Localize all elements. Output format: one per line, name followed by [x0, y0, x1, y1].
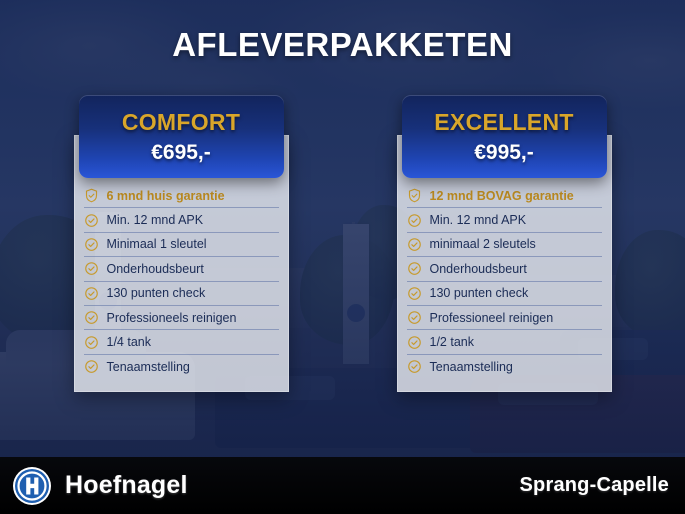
circle-check-icon — [407, 237, 422, 252]
shield-check-icon — [84, 188, 99, 203]
package-header-excellent: EXCELLENT €995,- — [402, 95, 607, 178]
shield-check-icon — [407, 188, 422, 203]
package-header-comfort: COMFORT €695,- — [79, 95, 284, 178]
feature-label: 1/2 tank — [430, 335, 474, 349]
brand-block: Hoefnagel — [12, 466, 188, 506]
brand-name: Hoefnagel — [65, 471, 188, 500]
feature-row: 12 mnd BOVAG garantie — [407, 184, 602, 208]
package-price: €995,- — [410, 141, 599, 165]
circle-check-icon — [84, 310, 99, 325]
circle-check-icon — [84, 359, 99, 374]
feature-row: 130 punten check — [84, 282, 279, 306]
package-list: 6 mnd huis garantie Min. 12 mnd APK Mini… — [0, 95, 685, 178]
circle-check-icon — [407, 359, 422, 374]
feature-label: Min. 12 mnd APK — [430, 213, 527, 227]
feature-label: 1/4 tank — [107, 335, 151, 349]
feature-row: Professioneels reinigen — [84, 306, 279, 330]
feature-label: minimaal 2 sleutels — [430, 237, 536, 251]
circle-check-icon — [84, 237, 99, 252]
feature-label: Minimaal 1 sleutel — [107, 237, 207, 251]
feature-row: Tenaamstelling — [407, 355, 602, 379]
package-card-excellent[interactable]: 12 mnd BOVAG garantie Min. 12 mnd APK mi… — [392, 95, 617, 178]
feature-list-excellent: 12 mnd BOVAG garantie Min. 12 mnd APK mi… — [398, 184, 611, 379]
feature-row: Professioneel reinigen — [407, 306, 602, 330]
feature-row: Min. 12 mnd APK — [84, 208, 279, 232]
feature-row: Onderhoudsbeurt — [84, 257, 279, 281]
feature-row: 6 mnd huis garantie — [84, 184, 279, 208]
feature-label: 12 mnd BOVAG garantie — [430, 189, 574, 203]
page-title: AFLEVERPAKKETEN — [0, 26, 685, 64]
feature-list-comfort: 6 mnd huis garantie Min. 12 mnd APK Mini… — [75, 184, 288, 379]
package-name: COMFORT — [87, 109, 276, 136]
circle-check-icon — [84, 261, 99, 276]
circle-check-icon — [407, 261, 422, 276]
feature-row: 1/4 tank — [84, 330, 279, 354]
feature-row: Minimaal 1 sleutel — [84, 233, 279, 257]
package-card-comfort[interactable]: 6 mnd huis garantie Min. 12 mnd APK Mini… — [69, 95, 294, 178]
feature-label: 130 punten check — [430, 286, 529, 300]
feature-label: 6 mnd huis garantie — [107, 189, 225, 203]
feature-label: Onderhoudsbeurt — [430, 262, 527, 276]
feature-row: Tenaamstelling — [84, 355, 279, 379]
location-label: Sprang-Capelle — [520, 474, 670, 497]
circle-check-icon — [84, 213, 99, 228]
package-name: EXCELLENT — [410, 109, 599, 136]
hoefnagel-logo-icon — [12, 466, 52, 506]
circle-check-icon — [407, 286, 422, 301]
circle-check-icon — [407, 335, 422, 350]
feature-label: Tenaamstelling — [430, 360, 513, 374]
feature-label: Professioneels reinigen — [107, 311, 237, 325]
feature-label: Professioneel reinigen — [430, 311, 554, 325]
circle-check-icon — [407, 310, 422, 325]
feature-row: Onderhoudsbeurt — [407, 257, 602, 281]
feature-label: 130 punten check — [107, 286, 206, 300]
feature-label: Tenaamstelling — [107, 360, 190, 374]
feature-row: 1/2 tank — [407, 330, 602, 354]
feature-row: 130 punten check — [407, 282, 602, 306]
circle-check-icon — [84, 335, 99, 350]
circle-check-icon — [407, 213, 422, 228]
slide-root: AFLEVERPAKKETEN 6 mnd huis garantie — [0, 0, 685, 514]
feature-label: Onderhoudsbeurt — [107, 262, 204, 276]
footer-bar: Hoefnagel Sprang-Capelle — [0, 457, 685, 514]
feature-row: minimaal 2 sleutels — [407, 233, 602, 257]
feature-label: Min. 12 mnd APK — [107, 213, 204, 227]
feature-row: Min. 12 mnd APK — [407, 208, 602, 232]
circle-check-icon — [84, 286, 99, 301]
package-price: €695,- — [87, 141, 276, 165]
